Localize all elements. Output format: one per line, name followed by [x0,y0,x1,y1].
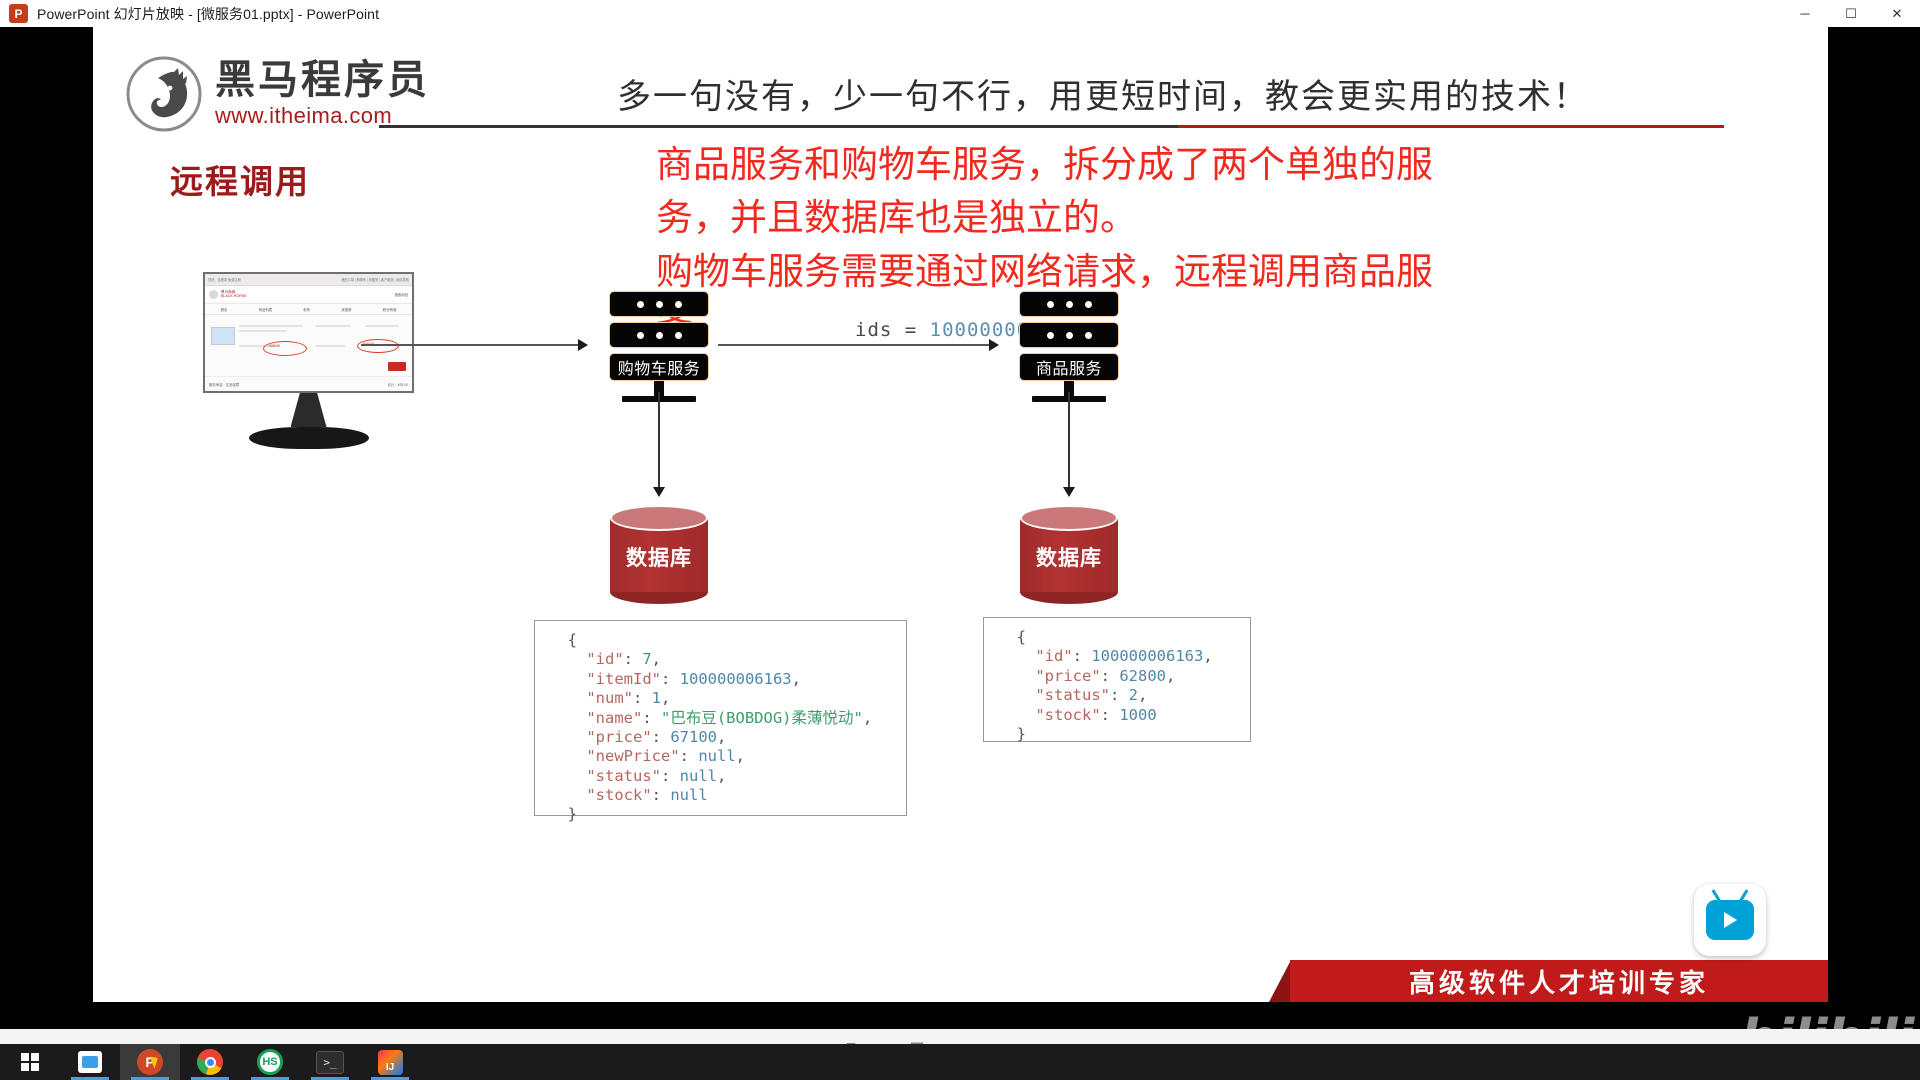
browser-footer: 服务承诺 · 正品保障 合计：¥28.00 [205,376,412,391]
db-top-ellipse [610,505,708,531]
slide-bottom-banner: 高级软件人才培训专家 [1290,960,1828,1002]
arrow-head-cart-to-db [653,487,665,497]
item-database: 数据库 [1020,505,1118,604]
brand-logo: 黑马程序员 www.itheima.com [125,55,430,133]
bilibili-icon [1706,900,1754,940]
code-value: 1 [652,689,661,707]
browser-tab: 商品列表 [259,307,273,312]
chrome-task[interactable] [180,1044,240,1080]
minimize-button[interactable]: ─ [1782,0,1828,27]
code-value: 62800 [1119,667,1166,685]
maximize-button[interactable]: ☐ [1828,0,1874,27]
server-bar [1019,322,1119,348]
code-value: 100000006163 [680,670,792,688]
code-line: "status": 2, [998,686,1236,705]
hs-icon: HS [257,1049,283,1075]
idea-task[interactable]: IJ [360,1044,420,1080]
browser-nav: 黑马商城 BLACK HORSE 搜索商品 [205,287,412,301]
code-value: null [680,767,717,785]
price-left: ¥28.00 [269,344,280,348]
code-key: "id" [1035,647,1072,665]
code-key: "price" [1035,667,1100,685]
product-thumb [211,327,235,345]
brand-name: 黑马程序员 [215,59,430,101]
windows-icon [21,1053,39,1071]
arrow-cart-to-item [718,344,990,346]
code-value: 7 [642,650,651,668]
code-key: "status" [586,767,661,785]
slide-title: 远程调用 [170,155,310,203]
banner-tail [1269,960,1291,1002]
cart-db-label: 数据库 [626,542,692,572]
cart-database: 数据库 [610,505,708,604]
browser-topbar-left: 您好，请登录 免费注册 [208,277,241,282]
item-json-code-block: { "id": 100000006163, "price": 62800, "s… [983,617,1251,742]
code-value: "巴布豆(BOBDOG)柔薄悦动" [661,709,863,727]
browser-tabs: 首页 商品列表 秒杀 优惠券 积分商城 [205,303,412,315]
code-line: "status": null, [549,767,892,786]
monitor-illustration: 您好，请登录 免费注册 我的订单 | 购物车 | 收藏夹 | 客户服务 | 网站… [203,272,414,449]
code-line: "newPrice": null, [549,747,892,766]
start-button[interactable] [0,1044,60,1080]
folder-icon [78,1051,102,1073]
slide-paragraph-1: 商品服务和购物车服务，拆分成了两个单独的服务，并且数据库也是独立的。 [656,139,1486,244]
slide-canvas: 黑马程序员 www.itheima.com 多一句没有，少一句不行，用更短时间，… [93,27,1828,1002]
code-value: 1000 [1119,706,1156,724]
code-line: "price": 62800, [998,667,1236,686]
slide-slogan: 多一句没有，少一句不行，用更短时间，教会更实用的技术！ [493,69,1713,118]
shop-brand-sub: BLACK HORSE [221,294,247,298]
code-key: "stock" [586,786,651,804]
code-value: 100000006163 [1091,647,1203,665]
code-key: "itemId" [586,670,661,688]
code-key: "stock" [1035,706,1100,724]
shop-search-hint: 搜索商品 [394,292,408,297]
monitor-screen: 您好，请登录 免费注册 我的订单 | 购物车 | 收藏夹 | 客户服务 | 网站… [203,272,414,393]
cart-service-node: 购物车服务 [609,291,709,402]
cart-service-label: 购物车服务 [609,353,709,381]
arrow-cart-to-db [658,392,660,490]
shop-logo-icon [209,290,218,299]
code-key: "name" [586,709,642,727]
footer-right: 合计：¥28.00 [387,382,408,387]
arrow-client-to-cart [361,344,579,346]
code-value: null [670,786,707,804]
bilibili-video-badge[interactable] [1694,884,1766,956]
code-line: "stock": 1000 [998,706,1236,725]
hbuilder-task[interactable]: HS [240,1044,300,1080]
item-service-label: 商品服务 [1019,353,1119,381]
horse-head-icon [125,55,203,133]
cart-json-code-block: { "id": 7, "itemId": 100000006163, "num"… [534,620,907,816]
browser-tab: 首页 [221,307,228,312]
code-value: 2 [1129,686,1138,704]
db-top-ellipse [1020,505,1118,531]
code-line: "name": "巴布豆(BOBDOG)柔薄悦动", [549,709,892,728]
arrow-head-item-to-db [1063,487,1075,497]
code-line: { [998,628,1236,647]
code-line: "num": 1, [549,689,892,708]
monitor-neck [291,393,327,427]
code-line: { [549,631,892,650]
window-controls: ─ ☐ ✕ [1782,0,1920,27]
code-key: "num" [586,689,633,707]
server-bar [609,322,709,348]
buy-button-mock [388,362,406,371]
close-button[interactable]: ✕ [1874,0,1920,27]
browser-tab: 积分商城 [383,307,397,312]
slideshow-stage[interactable]: 黑马程序员 www.itheima.com 多一句没有，少一句不行，用更短时间，… [0,27,1920,1049]
intellij-icon: IJ [378,1050,403,1075]
code-line: "id": 100000006163, [998,647,1236,666]
server-bar [1019,291,1119,317]
code-line: "stock": null [549,786,892,805]
arrow-head-cart-to-item [989,339,999,351]
code-line: "price": 67100, [549,728,892,747]
terminal-task[interactable]: >_ [300,1044,360,1080]
request-key: ids = [855,319,930,341]
code-key: "id" [586,650,623,668]
code-line: } [998,725,1236,744]
code-key: "status" [1035,686,1110,704]
code-line: } [549,805,892,824]
code-line: "id": 7, [549,650,892,669]
code-value: 67100 [670,728,717,746]
window-titlebar: P PowerPoint 幻灯片放映 - [微服务01.pptx] - Powe… [0,0,1920,28]
code-line: "itemId": 100000006163, [549,670,892,689]
arrow-head-client-to-cart [578,339,588,351]
windows-taskbar: P HS >_ IJ [0,1044,1920,1080]
code-key: "price" [586,728,651,746]
browser-topbar-right: 我的订单 | 购物车 | 收藏夹 | 客户服务 | 网站导航 [341,277,409,282]
powerpoint-icon: P [9,4,28,23]
item-service-node: 商品服务 [1019,291,1119,402]
powerpoint-task[interactable]: P [120,1044,180,1080]
footer-left: 服务承诺 · 正品保障 [209,382,239,387]
window-title: PowerPoint 幻灯片放映 - [微服务01.pptx] - PowerP… [37,4,379,24]
browser-topbar: 您好，请登录 免费注册 我的订单 | 购物车 | 收藏夹 | 客户服务 | 网站… [205,274,412,286]
screen-root: P PowerPoint 幻灯片放映 - [微服务01.pptx] - Powe… [0,0,1920,1080]
server-bar [609,291,709,317]
file-explorer-task[interactable] [60,1044,120,1080]
arrow-item-to-db [1068,392,1070,490]
browser-tab: 秒杀 [303,307,310,312]
code-value: null [698,747,735,765]
item-db-label: 数据库 [1036,542,1102,572]
monitor-base [249,427,369,449]
code-key: "newPrice" [586,747,679,765]
header-divider-red [1178,125,1724,128]
chrome-icon [197,1049,223,1075]
browser-tab: 优惠券 [341,307,351,312]
terminal-icon: >_ [316,1051,344,1074]
